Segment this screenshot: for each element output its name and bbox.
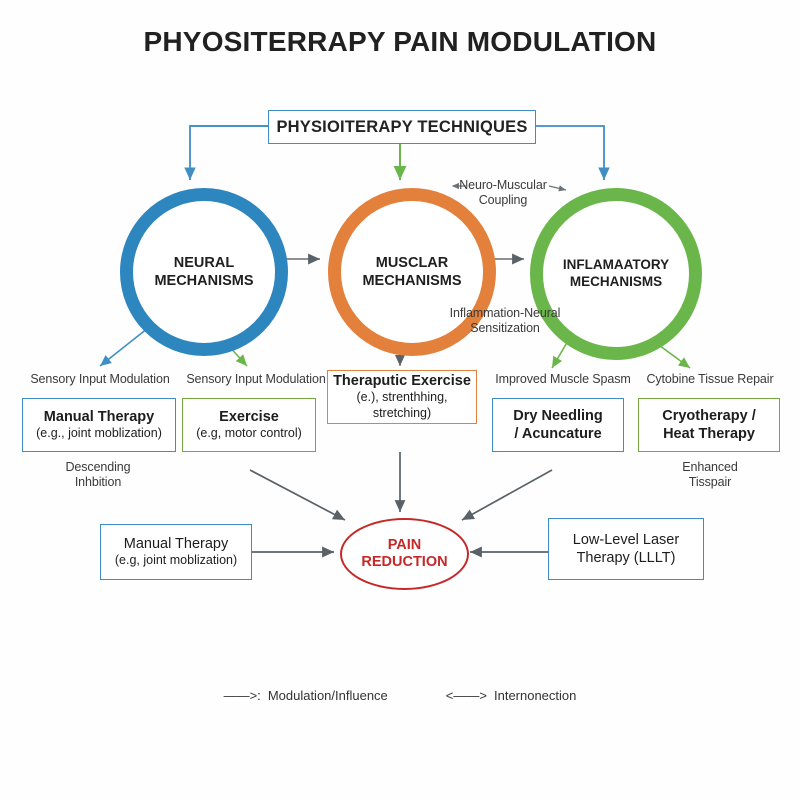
node-label: PHYSIOITERAPY TECHNIQUES	[276, 118, 527, 137]
legend-label: Internonection	[494, 688, 576, 703]
circle-line-2: MECHANISMS	[154, 272, 253, 290]
box-line-2: (e.g., joint moblization)	[36, 426, 162, 442]
box-manual-therapy[interactable]: Manual Therapy (e.g., joint moblization)	[22, 398, 176, 452]
arrow-bidirectional-icon: <——>	[446, 688, 487, 703]
label-enhanced-tissue-repair: Enhanced Tisspair	[650, 460, 770, 490]
box-line-2: (e.g, motor control)	[196, 426, 302, 442]
circle-line-1: NEURAL	[154, 254, 253, 272]
box-line-2: Heat Therapy	[663, 425, 755, 443]
page-title: PHYOSITERRAPY PAIN MODULATION	[0, 26, 800, 58]
label-descending-inhibition: Descending Inhbition	[38, 460, 158, 490]
label-sensory-input-modulation-left: Sensory Input Modulation	[20, 372, 180, 387]
node-physiotherapy-techniques[interactable]: PHYSIOITERAPY TECHNIQUES	[268, 110, 536, 144]
box-line-1: Manual Therapy	[124, 535, 229, 553]
box-line-1: Exercise	[219, 408, 279, 426]
legend-label: Modulation/Influence	[268, 688, 388, 703]
node-pain-reduction[interactable]: PAIN REDUCTION	[340, 518, 469, 590]
edge-manual-to-pain	[250, 470, 345, 520]
circle-line-1: MUSCLAR	[362, 254, 461, 272]
label-line-1: Descending	[65, 460, 130, 474]
box-line-1: Theraputic Exercise	[333, 372, 471, 390]
box-line-1: Low-Level Laser	[573, 531, 679, 549]
legend-item-modulation: ——>: Modulation/Influence	[224, 688, 388, 703]
label-line-2: Sensitization	[470, 321, 540, 335]
box-line-2: (e.g, joint moblization)	[115, 553, 237, 569]
label-sensory-input-modulation-right: Sensory Input Modulation	[176, 372, 336, 387]
label-line-1: Enhanced	[682, 460, 738, 474]
label-line-2: Tisspair	[689, 475, 732, 489]
legend: ——>: Modulation/Influence <——> Internone…	[0, 688, 800, 703]
box-cryotherapy-heat-therapy[interactable]: Cryotherapy / Heat Therapy	[638, 398, 780, 452]
box-line-2: / Acuncature	[514, 425, 601, 443]
label-neuro-muscular-coupling: Neuro-Muscular Coupling	[438, 178, 568, 208]
box-line-2: (e.), strenthhing, stretching)	[328, 390, 476, 421]
box-theraputic-exercise[interactable]: Theraputic Exercise (e.), strenthhing, s…	[327, 370, 477, 424]
label-line-1: Neuro-Muscular	[459, 178, 547, 192]
box-line-2: Therapy (LLLT)	[577, 549, 676, 567]
label-cytokine-tissue-repair: Cytobine Tissue Repair	[634, 372, 786, 387]
outcome-line-2: REDUCTION	[361, 554, 447, 570]
box-exercise[interactable]: Exercise (e.g, motor control)	[182, 398, 316, 452]
label-line-1: Inflammation-Neural	[450, 306, 561, 320]
circle-line-2: MECHANISMS	[362, 272, 461, 290]
circle-line-2: MECHANISMS	[563, 274, 669, 291]
label-line-2: Coupling	[479, 193, 528, 207]
edge-techniques-to-neural	[190, 126, 268, 180]
box-dry-needling[interactable]: Dry Needling / Acuncature	[492, 398, 624, 452]
edge-techniques-to-inflammatory	[534, 126, 604, 180]
arrow-right-icon: ——>:	[224, 688, 261, 703]
box-manual-therapy-lower[interactable]: Manual Therapy (e.g, joint moblization)	[100, 524, 252, 580]
label-inflammation-neural-sensitization: Inflammation-Neural Sensitization	[435, 306, 575, 336]
outcome-line-1: PAIN	[388, 537, 422, 553]
circle-line-1: INFLAMAATORY	[563, 257, 669, 274]
circle-neural-mechanisms[interactable]: NEURAL MECHANISMS	[120, 188, 288, 356]
label-line-2: Inhbition	[75, 475, 121, 489]
legend-item-interconnection: <——> Internonection	[446, 688, 577, 703]
box-line-1: Dry Needling	[513, 407, 602, 425]
edge-neural-to-sensory-left	[100, 328, 148, 366]
box-line-1: Manual Therapy	[44, 408, 154, 426]
box-low-level-laser-therapy[interactable]: Low-Level Laser Therapy (LLLT)	[548, 518, 704, 580]
label-improved-muscle-spasm: Improved Muscle Spasm	[487, 372, 639, 387]
diagram-canvas: PHYOSITERRAPY PAIN MODULATION PHYSIOITER…	[0, 0, 800, 800]
box-line-1: Cryotherapy /	[662, 407, 755, 425]
edge-dryneedling-to-pain	[462, 470, 552, 520]
